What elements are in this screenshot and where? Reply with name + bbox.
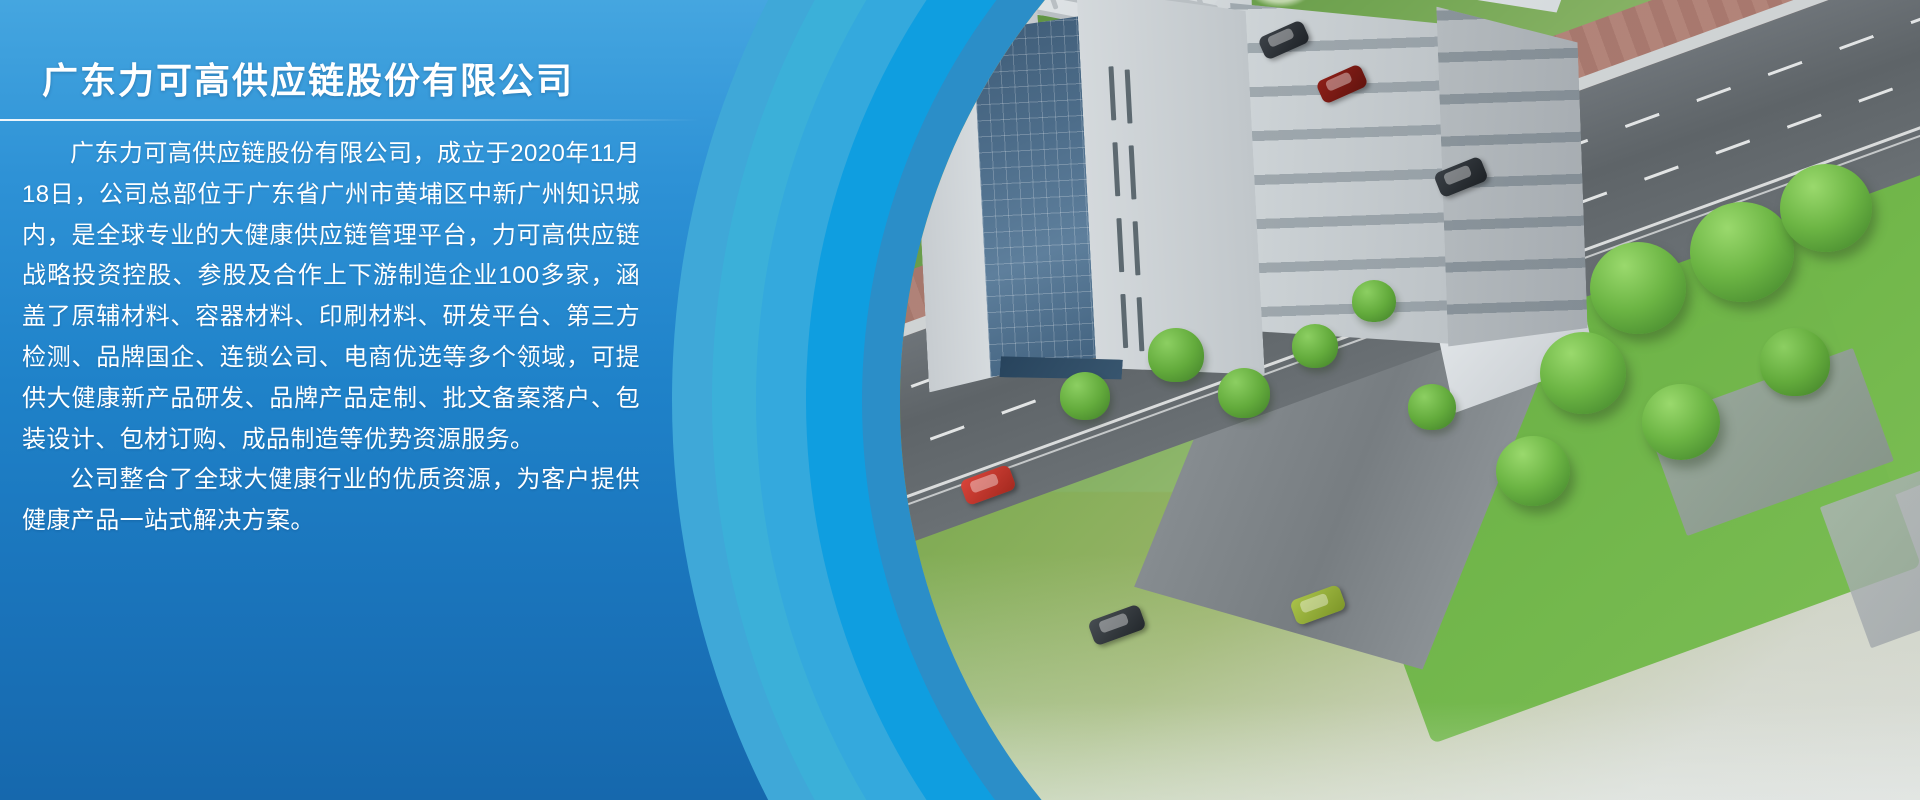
tree — [1496, 436, 1570, 506]
tree — [1642, 384, 1720, 460]
haze-overlay — [900, 702, 1920, 800]
page-title: 广东力可高供应链股份有限公司 — [42, 52, 574, 104]
text-panel: 广东力可高供应链股份有限公司 广东力可高供应链股份有限公司，成立于2020年11… — [0, 0, 700, 800]
tree — [1690, 202, 1794, 302]
tree — [1292, 324, 1338, 368]
tree — [1352, 280, 1396, 322]
building-facade-right — [1076, 0, 1264, 384]
tree — [1540, 332, 1626, 414]
aerial-campus-render — [900, 0, 1920, 800]
building-main-tower — [907, 0, 1259, 396]
campus-photo-disc — [900, 0, 1920, 800]
tree — [1780, 164, 1872, 252]
title-divider — [0, 119, 700, 121]
tree — [1060, 372, 1110, 420]
tree — [1760, 328, 1830, 396]
car-dark — [1087, 604, 1147, 647]
tree — [1148, 328, 1204, 382]
description-paragraph-1: 广东力可高供应链股份有限公司，成立于2020年11月18日，公司总部位于广东省广… — [22, 134, 640, 460]
company-profile-banner: 广东力可高供应链股份有限公司 广东力可高供应链股份有限公司，成立于2020年11… — [0, 0, 1920, 800]
tree — [1408, 384, 1456, 430]
tree — [1218, 368, 1270, 418]
description-paragraph-2: 公司整合了全球大健康行业的优质资源，为客户提供健康产品一站式解决方案。 — [22, 460, 640, 542]
company-description: 广东力可高供应链股份有限公司，成立于2020年11月18日，公司总部位于广东省广… — [22, 134, 640, 542]
tree — [1590, 242, 1686, 334]
